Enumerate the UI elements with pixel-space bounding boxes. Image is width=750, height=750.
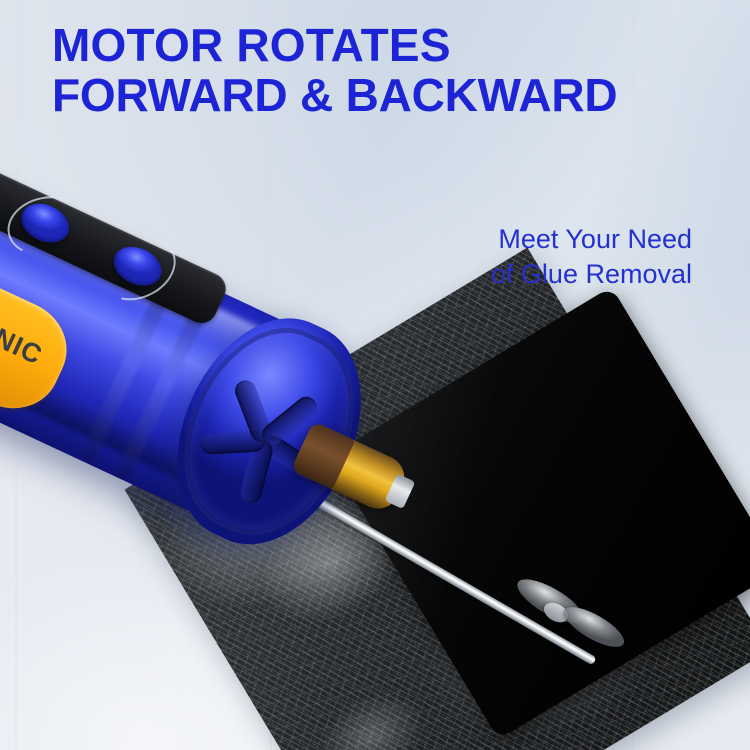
headline: MOTOR ROTATES FORWARD & BACKWARD [52,20,617,120]
subtext: Meet Your Need of Glue Removal [491,222,692,292]
subtext-line-1: Meet Your Need [491,222,692,257]
headline-line-1: MOTOR ROTATES [52,20,617,70]
product-promo-image: iR18 MECHANIC MASTER MOTOR ROTATES FORWA… [0,0,750,750]
subtext-line-2: of Glue Removal [491,257,692,292]
headline-line-2: FORWARD & BACKWARD [52,70,617,120]
